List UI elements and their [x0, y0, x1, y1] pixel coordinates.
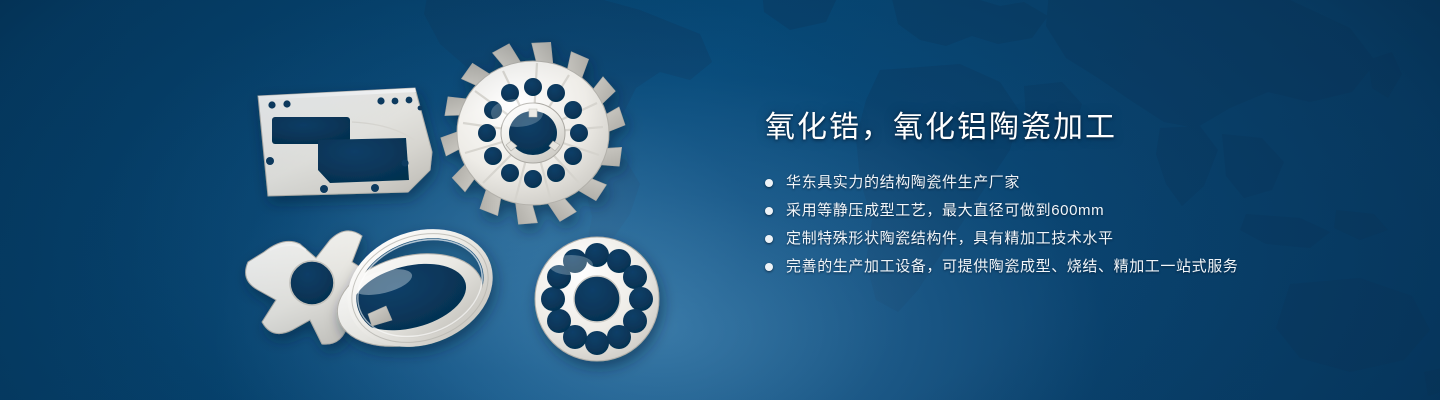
feature-text: 定制特殊形状陶瓷结构件，具有精加工技术水平: [786, 228, 1114, 250]
feature-item: 采用等静压成型工艺，最大直径可做到600mm: [765, 198, 1385, 223]
bullet-dot-icon: [765, 207, 773, 215]
bullet-dot-icon: [765, 179, 773, 187]
feature-text: 采用等静压成型工艺，最大直径可做到600mm: [786, 200, 1104, 222]
feature-list: 华东具实力的结构陶瓷件生产厂家 采用等静压成型工艺，最大直径可做到600mm 定…: [765, 170, 1385, 279]
banner-copy: 氧化锆，氧化铝陶瓷加工 华东具实力的结构陶瓷件生产厂家 采用等静压成型工艺，最大…: [765, 108, 1385, 282]
feature-item: 华东具实力的结构陶瓷件生产厂家: [765, 170, 1385, 195]
feature-text: 华东具实力的结构陶瓷件生产厂家: [786, 172, 1020, 194]
banner-headline: 氧化锆，氧化铝陶瓷加工: [765, 108, 1385, 148]
feature-item: 定制特殊形状陶瓷结构件，具有精加工技术水平: [765, 226, 1385, 251]
feature-item: 完善的生产加工设备，可提供陶瓷成型、烧结、精加工一站式服务: [765, 254, 1385, 279]
bullet-dot-icon: [765, 263, 773, 271]
feature-text: 完善的生产加工设备，可提供陶瓷成型、烧结、精加工一站式服务: [786, 256, 1238, 278]
hero-banner: 氧化锆，氧化铝陶瓷加工 华东具实力的结构陶瓷件生产厂家 采用等静压成型工艺，最大…: [0, 0, 1440, 400]
bullet-dot-icon: [765, 235, 773, 243]
